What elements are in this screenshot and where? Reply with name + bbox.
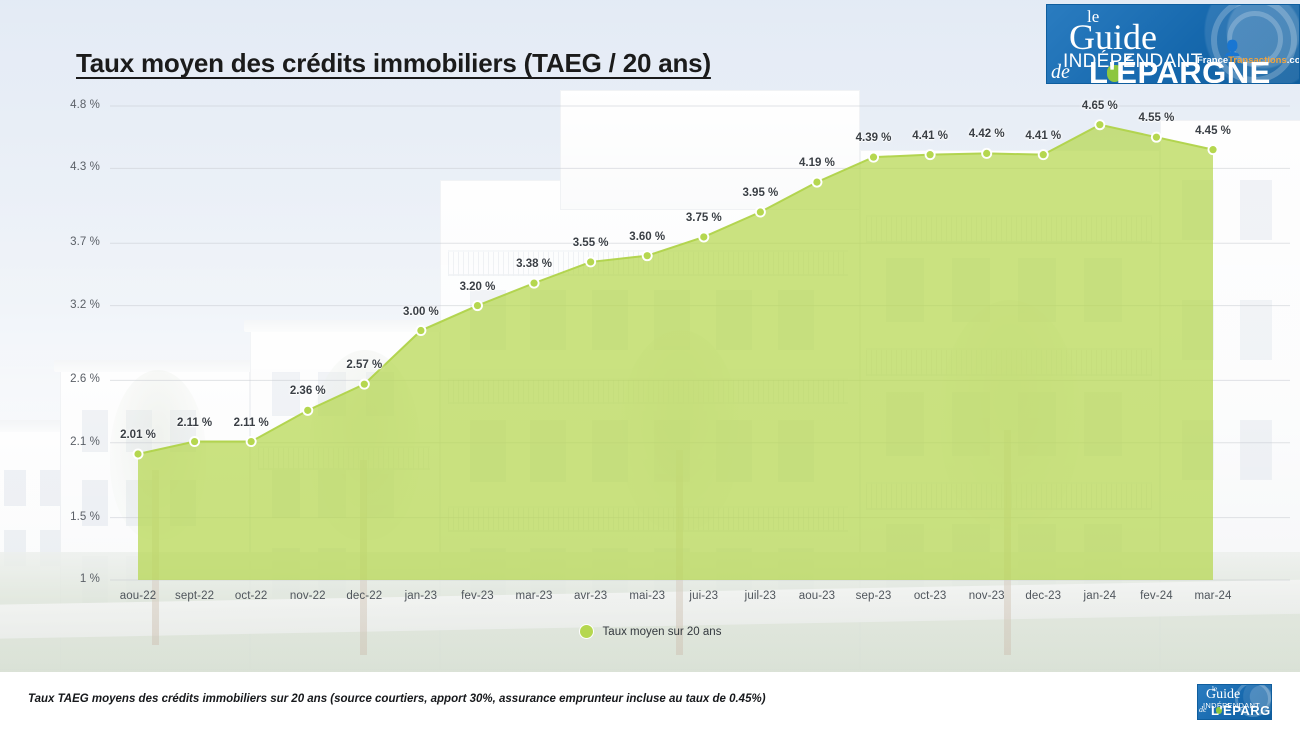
data-point-label: 4.41 %	[912, 130, 948, 142]
y-axis-tick-label: 1.5 %	[0, 511, 100, 523]
data-point-label: 3.60 %	[629, 231, 665, 243]
logo-guide: Guide	[1206, 688, 1240, 702]
data-point-label: 4.65 %	[1082, 100, 1118, 112]
data-point-label: 3.00 %	[403, 306, 439, 318]
footnote-text: Taux TAEG moyens des crédits immobiliers…	[28, 693, 766, 705]
y-axis-tick-label: 2.1 %	[0, 436, 100, 448]
data-point[interactable]	[1209, 146, 1216, 153]
data-point-label: 4.39 %	[856, 132, 892, 144]
legend-swatch-icon	[579, 624, 594, 639]
data-point[interactable]	[530, 280, 537, 287]
data-point[interactable]	[248, 438, 255, 445]
x-axis-tick-label: mar-23	[506, 590, 563, 602]
data-point[interactable]	[191, 438, 198, 445]
data-point-label: 2.11 %	[234, 417, 269, 429]
data-point-label: 3.38 %	[516, 258, 552, 270]
x-axis-tick-label: avr-23	[562, 590, 619, 602]
brand-logo-small[interactable]: le Guide INDÉPENDANT de L'ÉPARGNE	[1197, 684, 1272, 720]
data-point-label: 4.41 %	[1025, 130, 1061, 142]
data-point-label: 3.95 %	[742, 187, 778, 199]
data-point[interactable]	[644, 252, 651, 259]
data-point[interactable]	[757, 208, 764, 215]
data-point-label: 4.19 %	[799, 157, 835, 169]
data-point-label: 2.36 %	[290, 385, 326, 397]
x-axis-tick-label: sept-22	[166, 590, 223, 602]
y-axis-tick-label: 1 %	[0, 573, 100, 585]
x-axis-tick-label: juil-23	[732, 590, 789, 602]
x-axis-tick-label: nov-22	[279, 590, 336, 602]
x-axis-tick-label: aou-23	[789, 590, 846, 602]
x-axis-tick-label: dec-23	[1015, 590, 1072, 602]
x-axis-tick-label: jan-23	[393, 590, 450, 602]
x-axis-tick-label: mar-24	[1185, 590, 1242, 602]
data-point[interactable]	[474, 302, 481, 309]
data-point-label: 4.55 %	[1139, 112, 1175, 124]
logo-de: de	[1051, 61, 1070, 84]
x-axis-tick-label: fev-23	[449, 590, 506, 602]
brand-logo[interactable]: le Guide INDÉPENDANT 👤 FranceTransaction…	[1046, 4, 1300, 84]
logo-dotcom: .com	[1287, 55, 1300, 66]
x-axis-tick-label: fev-24	[1128, 590, 1185, 602]
data-point[interactable]	[134, 450, 141, 457]
x-axis-tick-label: mai-23	[619, 590, 676, 602]
data-point-label: 3.75 %	[686, 212, 722, 224]
data-point[interactable]	[587, 258, 594, 265]
data-point[interactable]	[1153, 134, 1160, 141]
data-point[interactable]	[983, 150, 990, 157]
x-axis-tick-label: nov-23	[958, 590, 1015, 602]
data-point-label: 4.45 %	[1195, 125, 1231, 137]
x-axis-tick-label: aou-22	[110, 590, 167, 602]
data-point[interactable]	[1040, 151, 1047, 158]
x-axis-tick-label: jui-23	[676, 590, 733, 602]
data-point-label: 2.11 %	[177, 417, 212, 429]
data-point[interactable]	[1096, 121, 1103, 128]
page-title: Taux moyen des crédits immobiliers (TAEG…	[76, 48, 711, 79]
y-axis-tick-label: 4.8 %	[0, 99, 100, 111]
data-point[interactable]	[813, 178, 820, 185]
x-axis-tick-label: oct-23	[902, 590, 959, 602]
logo-guide: Guide	[1069, 19, 1157, 55]
y-axis-tick-label: 3.7 %	[0, 236, 100, 248]
y-axis-tick-label: 2.6 %	[0, 373, 100, 385]
chart-area: 4.8 %4.3 %3.7 %3.2 %2.6 %2.1 %1.5 %1 % a…	[0, 0, 1300, 672]
x-axis-tick-label: oct-22	[223, 590, 280, 602]
y-axis-tick-label: 3.2 %	[0, 299, 100, 311]
logo-epargne: L'ÉPARGNE	[1211, 703, 1272, 718]
logo-epargne: L'ÉPARGNE	[1089, 55, 1271, 84]
logo-de: de	[1199, 705, 1207, 714]
data-point-label: 4.42 %	[969, 128, 1005, 140]
data-point-label: 2.57 %	[346, 359, 382, 371]
data-point-label: 3.55 %	[573, 237, 609, 249]
data-point[interactable]	[700, 233, 707, 240]
data-point[interactable]	[304, 407, 311, 414]
data-point-label: 2.01 %	[120, 429, 156, 441]
series-area-fill	[138, 125, 1213, 580]
y-axis-tick-label: 4.3 %	[0, 161, 100, 173]
data-point[interactable]	[927, 151, 934, 158]
x-axis-tick-label: jan-24	[1072, 590, 1129, 602]
chart-legend: Taux moyen sur 20 ans	[0, 624, 1300, 639]
data-point[interactable]	[870, 154, 877, 161]
chart-page: 4.8 %4.3 %3.7 %3.2 %2.6 %2.1 %1.5 %1 % a…	[0, 0, 1300, 731]
data-point[interactable]	[417, 327, 424, 334]
x-axis-tick-label: sep-23	[845, 590, 902, 602]
data-point-label: 3.20 %	[460, 281, 496, 293]
x-axis-tick-label: dec-22	[336, 590, 393, 602]
legend-label: Taux moyen sur 20 ans	[603, 626, 722, 638]
data-point[interactable]	[361, 381, 368, 388]
